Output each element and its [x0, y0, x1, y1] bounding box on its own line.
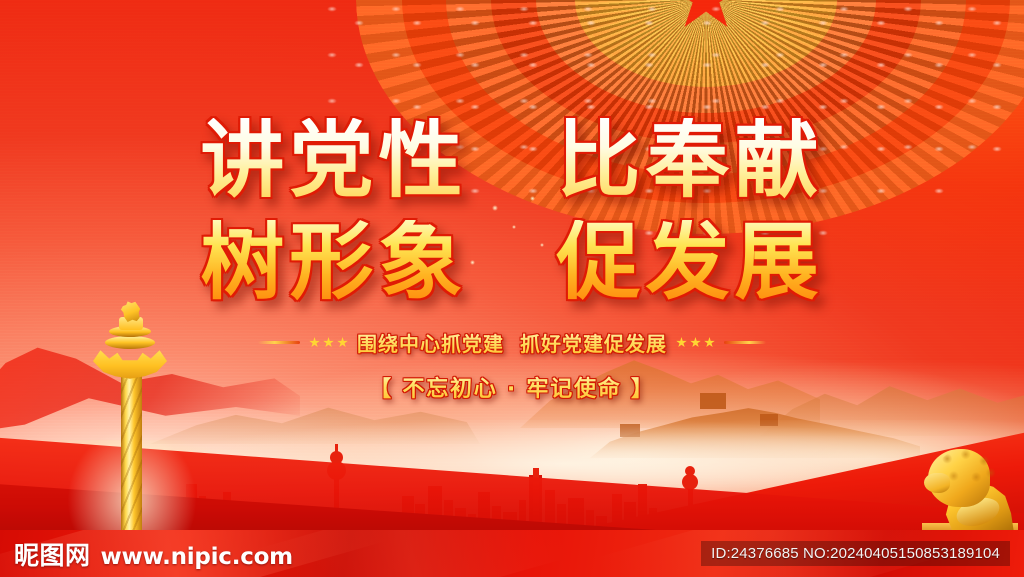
mini-star-icon [704, 337, 715, 348]
slogan-text: 【 不忘初心 · 牢记使命 】 [0, 371, 1024, 403]
watermark-bar: 昵图网 www.nipic.com ID:24376685 NO:2024040… [0, 530, 1024, 577]
star-group-right [676, 337, 715, 348]
guardian-lion-icon [922, 437, 1018, 533]
divider-rule-right [724, 341, 766, 344]
watermark-bar-inner: 昵图网 www.nipic.com ID:24376685 NO:2024040… [0, 530, 1024, 577]
headline-line-1: 讲党性 比奉献 [0, 118, 1024, 202]
divider-rule-left [258, 341, 300, 344]
mini-star-icon [337, 337, 348, 348]
poster-canvas: 讲党性 比奉献 树形象 促发展 围绕中心抓党建 抓好党建促发展 【 不忘初心 ·… [0, 0, 1024, 577]
headline-block: 讲党性 比奉献 树形象 促发展 围绕中心抓党建 抓好党建促发展 【 不忘初心 ·… [0, 118, 1024, 403]
headline-line-2: 树形象 促发展 [0, 220, 1024, 304]
star-group-left [309, 337, 348, 348]
mini-star-icon [676, 337, 687, 348]
watermark-brand[interactable]: 昵图网 www.nipic.com [14, 536, 293, 572]
lion-snout [924, 473, 950, 493]
mini-star-icon [690, 337, 701, 348]
subtitle-text: 围绕中心抓党建 抓好党建促发展 [357, 328, 667, 357]
watermark-id-text: ID:24376685 NO:20240405150853189104 [701, 541, 1010, 566]
watermark-site-name: 昵图网 [14, 536, 91, 572]
mini-star-icon [309, 337, 320, 348]
watermark-site-url[interactable]: www.nipic.com [101, 544, 293, 570]
mini-star-icon [323, 337, 334, 348]
subtitle-row: 围绕中心抓党建 抓好党建促发展 [0, 328, 1024, 357]
